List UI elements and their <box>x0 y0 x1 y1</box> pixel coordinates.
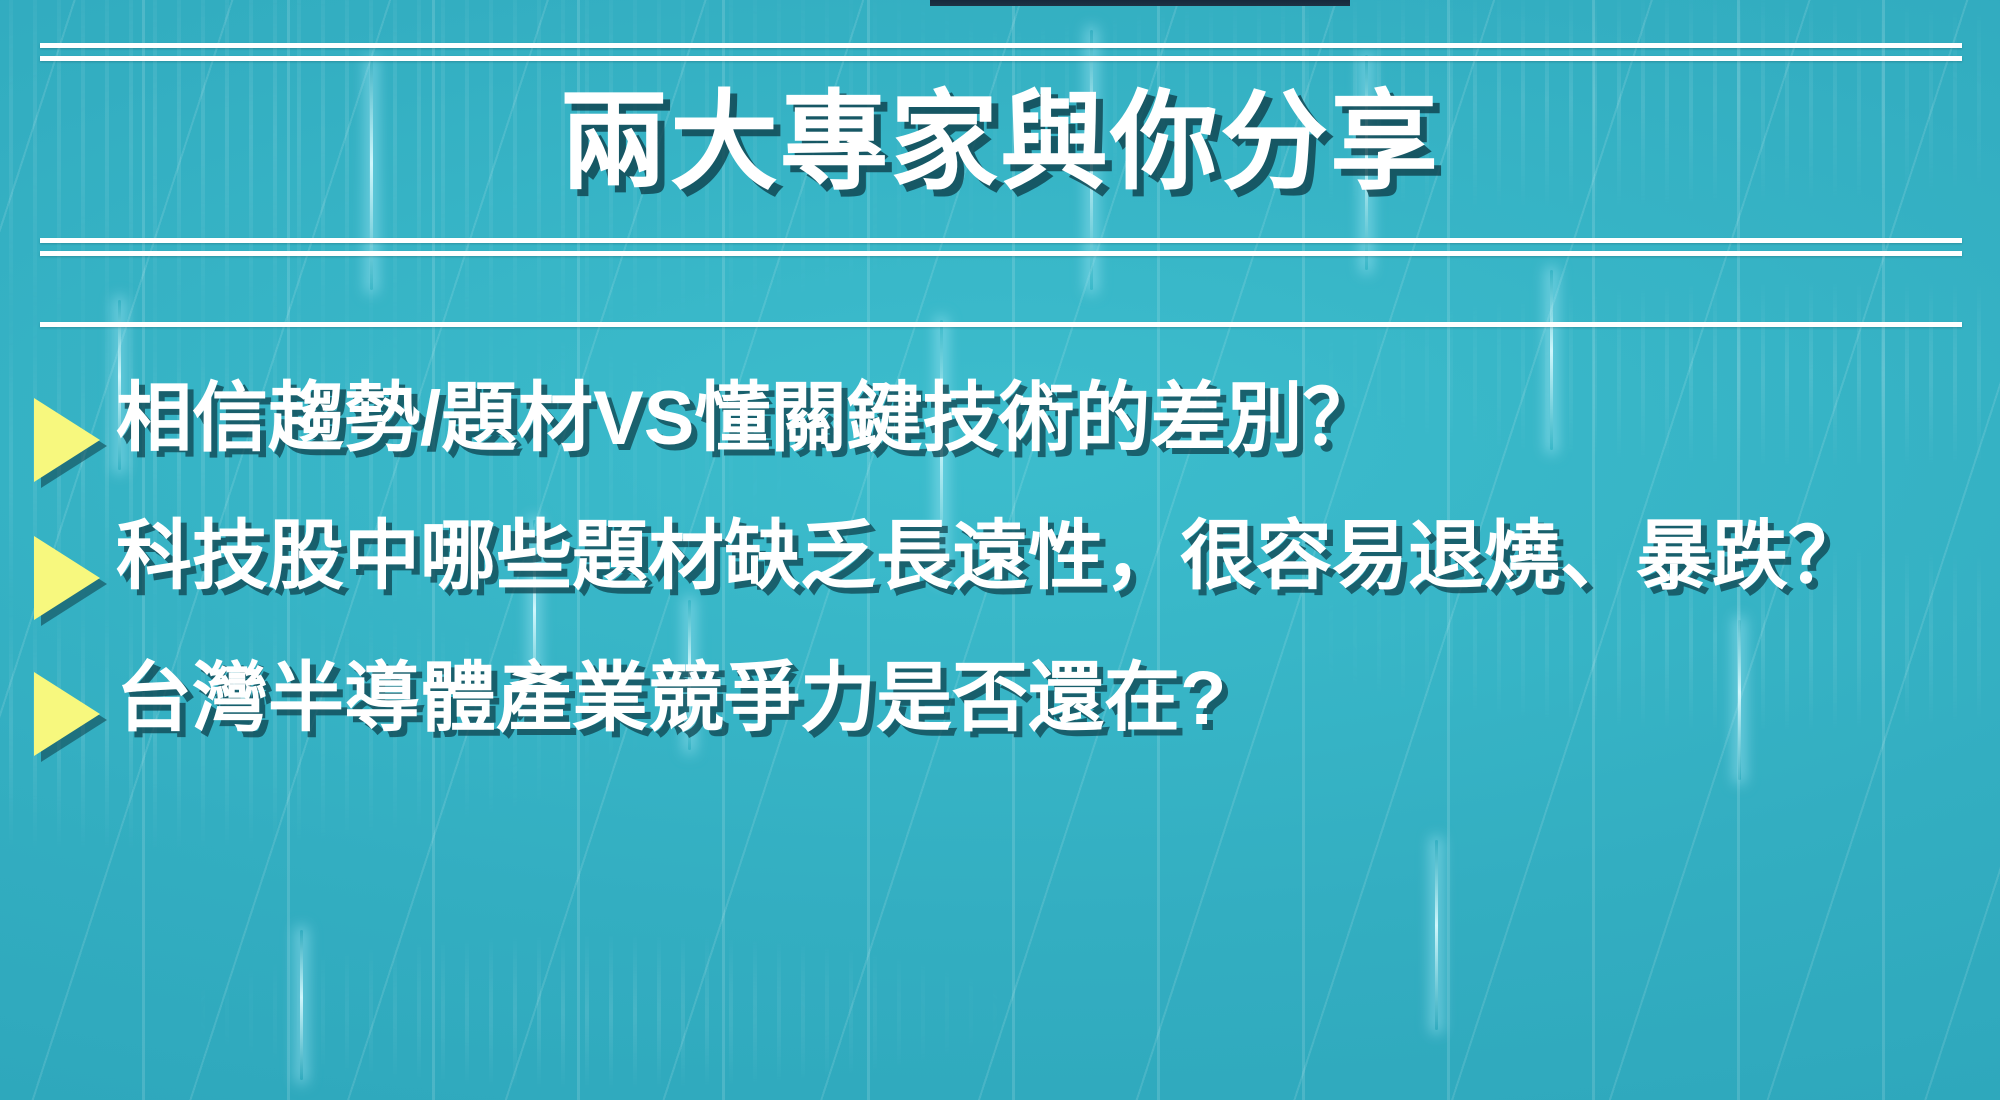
title-rule-bottom <box>40 251 1962 256</box>
slide-canvas: 兩大專家與你分享 相信趨勢/題材VS懂關鍵技術的差別？ 科技股中哪些題材缺乏長遠… <box>0 0 2000 1100</box>
bullet-3-text: 台灣半導體產業競爭力是否還在? <box>116 650 1226 749</box>
play-triangle-icon <box>34 536 100 620</box>
play-triangle-icon <box>34 672 100 756</box>
list-item: 台灣半導體產業競爭力是否還在? <box>34 650 1994 756</box>
bullet-list: 相信趨勢/題材VS懂關鍵技術的差別？ 科技股中哪些題材缺乏長遠性，很容易退燒、暴… <box>34 370 1994 774</box>
bullet-2-text: 科技股中哪些題材缺乏長遠性，很容易退燒、暴跌？ <box>116 508 1864 607</box>
play-triangle-icon <box>34 398 100 482</box>
title-rule-top <box>40 238 1962 243</box>
light-streak <box>1435 840 1438 1030</box>
list-item: 科技股中哪些題材缺乏長遠性，很容易退燒、暴跌？ <box>34 508 1994 620</box>
top-dark-banner <box>930 0 1350 6</box>
page-title: 兩大專家與你分享 <box>560 78 1440 205</box>
header-rule-top <box>40 43 1962 48</box>
page-title-container: 兩大專家與你分享 <box>0 78 2000 205</box>
list-item: 相信趨勢/題材VS懂關鍵技術的差別？ <box>34 370 1994 482</box>
title-rule-lower <box>40 322 1962 327</box>
bullet-1-text: 相信趨勢/題材VS懂關鍵技術的差別？ <box>116 370 1379 469</box>
light-streak <box>300 930 303 1080</box>
header-rule-second <box>40 56 1962 61</box>
